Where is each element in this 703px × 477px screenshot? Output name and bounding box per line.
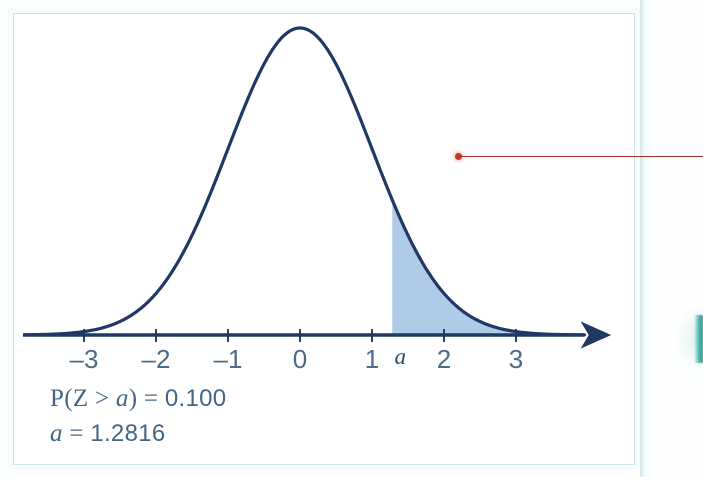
crit-equals: = — [63, 420, 91, 447]
teal-edge-fragment — [694, 315, 703, 363]
critical-value-statement: a = 1.2816 — [50, 417, 226, 452]
annotation-line — [460, 156, 703, 158]
xtick-label-minus1: –1 — [214, 346, 243, 372]
formula-block: P(Z > a) = 0.100 a = 1.2816 — [50, 382, 226, 451]
probability-statement: P(Z > a) = 0.100 — [50, 382, 226, 417]
xtick-label-zero: 0 — [293, 346, 307, 372]
prob-suffix: ) = — [129, 385, 165, 412]
prob-value: 0.100 — [165, 385, 227, 412]
xtick-label-minus2: –2 — [142, 346, 171, 372]
xtick-label-minus3: –3 — [70, 346, 99, 372]
crit-value: 1.2816 — [90, 420, 165, 447]
xtick-label-three: 3 — [509, 346, 523, 372]
prob-var-z: Z — [73, 385, 89, 412]
annotation-leader — [455, 149, 703, 163]
prob-operator: > — [88, 385, 116, 412]
page-column-rule-soft — [643, 0, 651, 477]
prob-prefix: P( — [50, 385, 73, 412]
xtick-label-one: 1 — [365, 346, 379, 372]
prob-var-a: a — [116, 385, 129, 412]
crit-var-a: a — [50, 420, 63, 447]
xtick-label-two: 2 — [437, 346, 451, 372]
page-background: –3 –2 –1 0 1 a 2 3 P(Z > a) = 0.100 a = … — [0, 0, 703, 477]
xtick-label-critical-a: a — [395, 345, 407, 368]
